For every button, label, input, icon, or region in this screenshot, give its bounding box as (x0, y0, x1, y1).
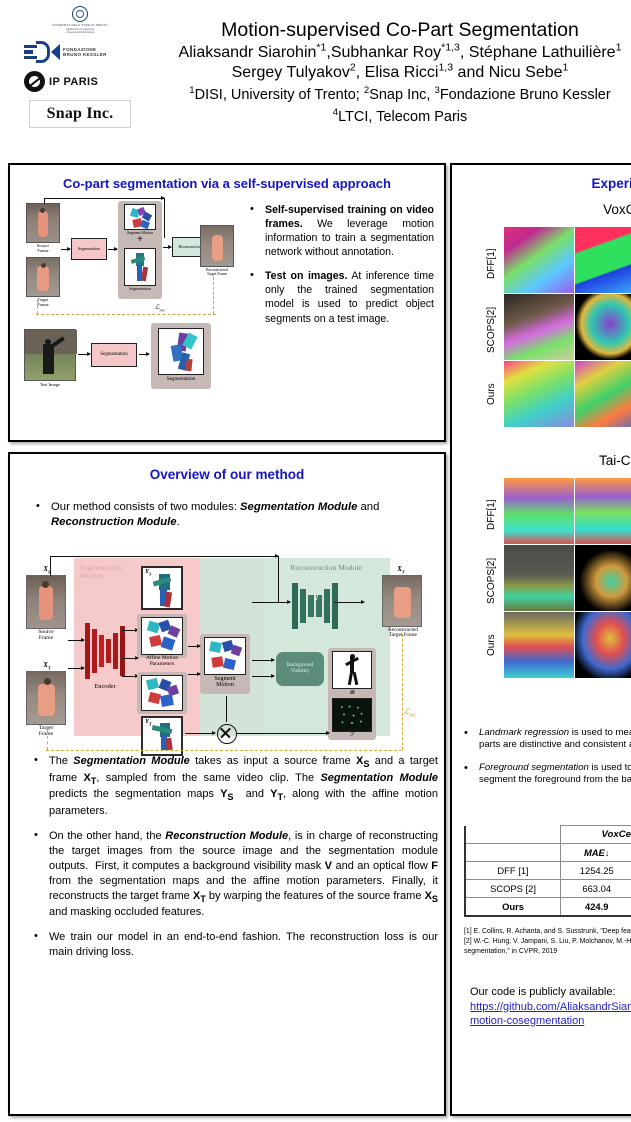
panel-copart-segmentation: Co-part segmentation via a self-supervis… (8, 163, 446, 442)
experiments-bullet-1: Landmark regression is used to measure h… (460, 727, 631, 752)
arrow-yt-to-multiply (185, 733, 215, 734)
arrow-affine-s-to-segmotion (188, 646, 200, 647)
table-cell: 663.04 (561, 880, 631, 898)
table-row: Ours 424.9 0.919 389.78 0.772 (465, 898, 631, 917)
arrow-decoder-to-xt (334, 602, 364, 603)
visibility-mask-v (332, 651, 372, 689)
table-group-voxceleb: VoxCeleb (561, 826, 631, 844)
poster-title: Motion-supervised Co-Part Segmentation (140, 20, 631, 42)
code-url-line-1[interactable]: https://github.com/AliaksandrSiarohin/ (470, 1001, 631, 1013)
panel-overview-of-method: Overview of our method Our method consis… (8, 452, 446, 1116)
loss-dashed-up (213, 277, 214, 314)
dataset-label-taichi: Tai-Chi-HD (452, 453, 631, 468)
segmentation-box: Segmentation (71, 238, 107, 260)
test-output-thumb (158, 328, 204, 375)
table-corner-cell (465, 826, 561, 844)
target-frame-thumb (26, 257, 60, 297)
method-loss-dashed-down (47, 730, 48, 750)
multiply-node-icon (217, 724, 237, 744)
background-visibility-label: BackgroundVisiblity (287, 663, 313, 674)
affine-motion-thumb-target (141, 675, 183, 711)
voxceleb-ours-cell-2 (575, 361, 631, 427)
encoder-stack (85, 620, 125, 682)
voxceleb-row-labels: DFF[1] SCOPS[2] Ours (486, 227, 503, 432)
source-frame-thumb (26, 203, 60, 243)
logo-stack: UNIVERSITÀ DEGLI STUDI DI TRENTO Diparti… (20, 6, 140, 128)
taichi-dff-cell-1 (504, 478, 574, 544)
overview-panel-title: Overview of our method (10, 467, 444, 482)
author-line-2: Sergey Tulyakov2, Elisa Ricci1,3 and Nic… (140, 63, 631, 83)
xs-source-frame (26, 575, 66, 629)
arrow-encoder-to-ys (122, 630, 138, 631)
affine-motion-caption: Affine MotionParameters (130, 656, 194, 668)
segment-motion-label: SegmentMotion (200, 676, 250, 689)
taichi-dff-cell-2 (575, 478, 631, 544)
ys-map: YS (141, 566, 183, 610)
reconstruction-module-label: Reconstruction Module (268, 564, 384, 572)
taichi-ours-cell-1 (504, 612, 574, 678)
references-block: [1] E. Collins, R. Achanta, and S. Susst… (464, 927, 631, 957)
voxceleb-dff-cell-2 (575, 227, 631, 293)
experiments-bullet-list: Landmark regression is used to measure h… (460, 727, 631, 796)
reconstructed-frame-thumb (200, 225, 234, 267)
overview-intro-post: . (177, 516, 180, 528)
voxceleb-image-grid (504, 227, 631, 427)
fbk-logo: FONDAZIONE BRUNO KESSLER (24, 40, 136, 64)
voxceleb-row-label-dff: DFF[1] (486, 235, 497, 293)
taichi-row-labels: DFF[1] SCOPS[2] Ours (486, 478, 503, 683)
segmentation-box-label: Segmentation (78, 247, 100, 251)
copart-pipeline-figure: SourceFrame TargetFrame Segmentation Seg… (20, 197, 235, 425)
overview-bullet-3: We train our model in an end-to-end fash… (30, 930, 438, 960)
segment-motion-thumb (124, 204, 156, 230)
snap-inc-logo: Snap Inc. (29, 100, 131, 128)
arrow-segmentation-to-output (139, 354, 149, 355)
taichi-image-grid (504, 478, 631, 678)
loss-dashed-line (36, 314, 216, 315)
table-cell: 1254.25 (561, 862, 631, 880)
copart-panel-title: Co-part segmentation via a self-supervis… (10, 176, 444, 191)
taichi-row-label-dff: DFF[1] (486, 486, 497, 544)
snap-inc-label: Snap Inc. (47, 105, 114, 123)
loss-dashed-down (37, 300, 38, 314)
experiments-panel-title: Experiments (452, 176, 631, 191)
test-image-thumb (24, 329, 76, 381)
panel-experiments: Experiments VoxCeleb DFF[1] SCOPS[2] Our… (450, 163, 631, 1116)
affine-motion-thumb-source (141, 617, 183, 655)
reconstruction-box-label: Reconstruction (179, 245, 202, 249)
xt-output-label: XT (384, 566, 418, 575)
test-output-caption: Segmentation (151, 377, 211, 382)
voxceleb-row-label-scops: SCOPS[2] (486, 299, 497, 361)
fbk-mark-icon (24, 43, 60, 62)
method-loss-label: ℒrec (404, 708, 440, 719)
table-row-method: SCOPS [2] (465, 880, 561, 898)
segment-motion-thumb (204, 637, 246, 675)
overview-intro-bullet: Our method consists of two modules: Segm… (32, 500, 432, 531)
affiliation-line-2: 4LTCI, Telecom Paris (140, 108, 631, 127)
author-line-1: Aliaksandr Siarohin*1,Subhankar Roy*1,3,… (140, 43, 631, 63)
overview-intro-pre: Our method consists of two modules: (51, 501, 240, 513)
overview-bullet-list: The Segmentation Module takes as input a… (30, 754, 438, 970)
table-metric-vox-mae: MAE↓ (561, 844, 631, 862)
reference-1: [1] E. Collins, R. Achanta, and S. Susst… (464, 927, 631, 937)
skip-line-top (50, 556, 278, 557)
unitn-logo-line1: UNIVERSITÀ DEGLI STUDI DI TRENTO (52, 24, 107, 27)
ip-paris-logo: IP PARIS (24, 69, 136, 94)
voxceleb-scops-cell-1 (504, 294, 574, 360)
results-table: VoxCeleb Tai-Chi-HD MAE↓ IoU↑ MAE↓ IoU↑ … (464, 825, 631, 917)
table-metric-blank (465, 844, 561, 862)
xt-caption: TargetFrame (22, 726, 70, 738)
dataset-label-voxceleb: VoxCeleb (452, 202, 631, 217)
code-label: Our code is publicly available: (470, 985, 631, 1000)
voxceleb-results-grid: DFF[1] SCOPS[2] Ours (452, 227, 631, 432)
experiments-bullet-2: Foreground segmentation is used to evalu… (460, 762, 631, 787)
taichi-results-grid: DFF[1] SCOPS[2] Ours (452, 478, 631, 683)
arrow-segmotion-to-bgvis (252, 660, 274, 661)
overview-intro-list: Our method consists of two modules: Segm… (32, 500, 432, 541)
arrow-motion-to-reconstruction (163, 247, 171, 248)
method-loss-dashed-up (402, 634, 403, 750)
table-row: DFF [1] 1254.25 - 627.6 - (465, 862, 631, 880)
table-row-method: Ours (465, 898, 561, 917)
method-architecture-figure: SegmentationModule Reconstruction Module… (22, 548, 434, 738)
overview-intro-module-2: Reconstruction Module (51, 516, 177, 528)
xt-output-caption: ReconstructedTarget Frame (374, 628, 432, 639)
overview-bullet-2: On the other hand, the Reconstruction Mo… (30, 829, 438, 920)
segmentation-thumb (124, 248, 156, 286)
taichi-row-label-scops: SCOPS[2] (486, 550, 497, 612)
source-frame-caption: SourceFrame (20, 244, 66, 253)
table-row: SCOPS [2] 663.04 0.508 411.38 0.488 (465, 880, 631, 898)
decoder-d-label: d (310, 595, 322, 602)
taichi-ours-cell-2 (575, 612, 631, 678)
encoder-label: Encoder (80, 684, 130, 691)
overview-intro-module-1: Segmentation Module (240, 501, 357, 513)
target-frame-caption: TargetFrame (20, 298, 66, 307)
test-segmentation-box-label: Segmentation (100, 352, 128, 357)
arrow-frames-to-segmentation (61, 249, 70, 250)
test-segmentation-box: Segmentation (91, 343, 137, 367)
ip-paris-label: IP PARIS (49, 76, 98, 88)
method-loss-dashed-line (46, 750, 402, 751)
arrow-test-to-segmentation (78, 354, 90, 355)
optical-flow-f (332, 698, 372, 732)
test-image-caption: Test Image (20, 383, 80, 388)
fbk-logo-line2: BRUNO KESSLER (63, 52, 107, 57)
xs-caption: SourceFrame (22, 630, 70, 642)
xt-output-frame (382, 575, 422, 627)
reconstructed-frame-caption: ReconstructedTarget Frame (192, 268, 242, 276)
unitn-seal-icon (72, 6, 88, 22)
taichi-scops-cell-1 (504, 545, 574, 611)
f-symbol-label: ℱ (328, 732, 376, 738)
background-visibility-box: BackgroundVisiblity (276, 652, 324, 686)
reconstruction-loss-label: ℒrec (140, 305, 180, 313)
arrow-xt-to-encoder (68, 668, 84, 669)
table-group-header-row: VoxCeleb Tai-Chi-HD (465, 826, 631, 844)
arrow-segmotion-down-to-multiply (226, 696, 227, 722)
xs-label: XS (30, 566, 64, 575)
voxceleb-row-label-ours: Ours (486, 369, 497, 419)
taichi-row-label-ours: Ours (486, 620, 497, 670)
arrow-multiply-to-f (237, 733, 329, 734)
poster-header: UNIVERSITÀ DEGLI STUDI DI TRENTO Diparti… (0, 0, 631, 150)
copart-bullet-1: Self-supervised training on video frames… (246, 203, 434, 259)
arrow-ys-to-decoder (252, 602, 290, 603)
title-block: Motion-supervised Co-Part Segmentation A… (140, 20, 631, 127)
arrow-affine-t-to-segmotion (188, 674, 200, 675)
overview-intro-mid: and (357, 501, 379, 513)
taichi-scops-cell-2 (575, 545, 631, 611)
table-row-method: DFF [1] (465, 862, 561, 880)
ip-paris-badge-icon (24, 71, 45, 92)
arrow-yt-to-bgvis (252, 676, 274, 677)
voxceleb-scops-cell-2 (575, 294, 631, 360)
skip-line-left (50, 556, 51, 576)
unitn-logo-line3: e Scienza dell'Informazione (65, 31, 94, 34)
copart-bullet-2-bold: Test on images. (265, 270, 347, 282)
arrow-seg-to-motion (108, 249, 117, 250)
feedback-line-top (44, 198, 164, 199)
feedback-line-right (164, 198, 165, 238)
voxceleb-dff-cell-1 (504, 227, 574, 293)
reference-2: [2] W.-C. Hung, V. Jampani, S. Liu, P. M… (464, 937, 631, 957)
table-cell: 424.9 (561, 898, 631, 917)
university-of-trento-logo: UNIVERSITÀ DEGLI STUDI DI TRENTO Diparti… (26, 6, 134, 34)
skip-line-right (278, 556, 279, 602)
plus-symbol: + (118, 235, 162, 246)
table-metric-header-row: MAE↓ IoU↑ MAE↓ IoU↑ (465, 844, 631, 862)
voxceleb-ours-cell-1 (504, 361, 574, 427)
overview-bullet-1: The Segmentation Module takes as input a… (30, 754, 438, 819)
arrow-xs-to-encoder (68, 640, 84, 641)
arrow-encoder-to-yt (122, 676, 138, 677)
v-symbol-label: 𝍣 (328, 690, 376, 696)
segmentation-thumb-caption: Segmentation (118, 287, 162, 291)
copart-bullet-list: Self-supervised training on video frames… (246, 203, 434, 336)
affiliation-line-1: 1DISI, University of Trento; 2Snap Inc, … (140, 86, 631, 105)
code-availability-block: Our code is publicly available: https://… (470, 985, 631, 1029)
decoder-stack (292, 580, 338, 632)
copart-bullet-2: Test on images. At inference time only t… (246, 269, 434, 325)
xt-target-frame (26, 671, 66, 725)
code-url-line-2[interactable]: motion-cosegmentation (470, 1015, 584, 1027)
xt-label: XT (30, 662, 64, 671)
